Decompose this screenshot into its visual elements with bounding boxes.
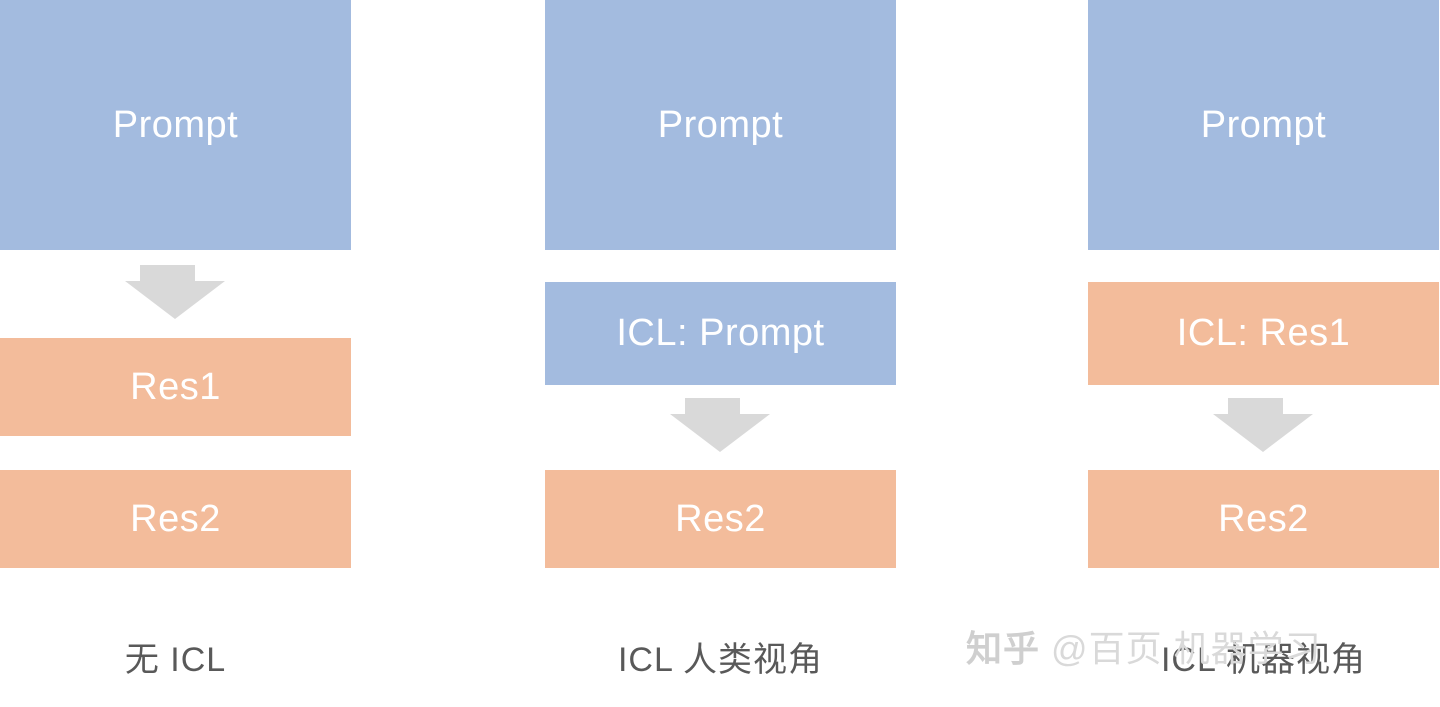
diagram-canvas: Prompt Res1 Res2 无 ICL Prompt ICL: Promp… (0, 0, 1440, 707)
diagram-column-no-icl: Prompt Res1 Res2 无 ICL (0, 0, 351, 707)
watermark-handle: @百页 机器学习 (1051, 628, 1322, 669)
block-res2: Res2 (0, 470, 351, 568)
block-icl-prompt: ICL: Prompt (545, 282, 896, 385)
block-label: Res1 (130, 366, 221, 409)
arrow-down-icon (1208, 398, 1318, 454)
column-caption: ICL 人类视角 (545, 632, 896, 681)
block-res2: Res2 (1088, 470, 1439, 568)
block-label: ICL: Prompt (616, 312, 824, 355)
arrow-down-icon (120, 265, 230, 321)
block-prompt: Prompt (545, 0, 896, 250)
block-label: Res2 (675, 498, 766, 541)
block-label: Prompt (1201, 104, 1326, 147)
block-prompt: Prompt (1088, 0, 1439, 250)
block-label: Res2 (1218, 498, 1309, 541)
watermark: 知乎 @百页 机器学习 (966, 620, 1322, 672)
block-label: ICL: Res1 (1177, 312, 1350, 355)
block-res1: Res1 (0, 338, 351, 436)
diagram-column-icl-human-view: Prompt ICL: Prompt Res2 ICL 人类视角 (545, 0, 896, 707)
column-caption: 无 ICL (0, 632, 351, 681)
diagram-column-icl-machine-view: Prompt ICL: Res1 Res2 ICL 机器视角 (1088, 0, 1439, 707)
block-prompt: Prompt (0, 0, 351, 250)
arrow-down-icon (665, 398, 775, 454)
block-label: Prompt (658, 104, 783, 147)
block-icl-res1: ICL: Res1 (1088, 282, 1439, 385)
block-label: Res2 (130, 498, 221, 541)
watermark-site: 知乎 (966, 628, 1040, 669)
block-res2: Res2 (545, 470, 896, 568)
block-label: Prompt (113, 104, 238, 147)
